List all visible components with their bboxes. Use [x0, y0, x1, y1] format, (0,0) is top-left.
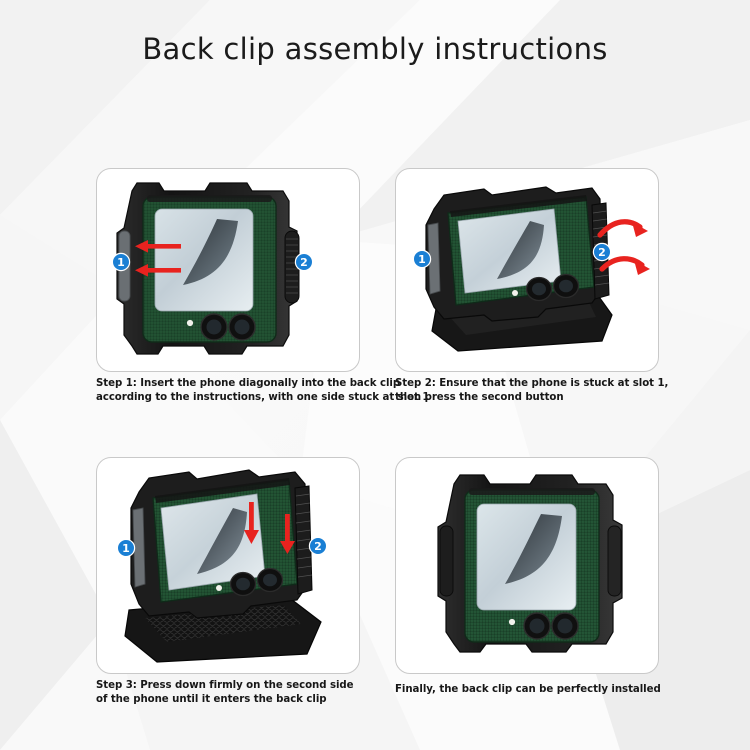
svg-text:2: 2 — [314, 540, 322, 553]
badge-slot-1: 1 — [117, 539, 134, 556]
panel-final — [395, 457, 659, 674]
svg-text:1: 1 — [122, 542, 130, 555]
caption-line: according to the instructions, with one … — [96, 391, 386, 405]
caption-step-3: Step 3: Press down firmly on the second … — [96, 679, 376, 708]
svg-text:2: 2 — [300, 256, 308, 269]
badge-slot-1: 1 — [112, 253, 129, 270]
caption-step-2: Step 2: Ensure that the phone is stuck a… — [395, 377, 685, 406]
page-title: Back clip assembly instructions — [0, 32, 750, 66]
svg-text:1: 1 — [418, 253, 426, 266]
caption-line: Step 2: Ensure that the phone is stuck a… — [395, 377, 685, 391]
badge-slot-2: 2 — [593, 243, 610, 260]
caption-line: then press the second button — [395, 391, 685, 405]
svg-text:1: 1 — [117, 256, 125, 269]
caption-line: Finally, the back clip can be perfectly … — [395, 683, 685, 697]
badge-slot-1: 1 — [413, 250, 430, 267]
panel-step-1: 1 2 — [96, 168, 360, 372]
caption-step-1: Step 1: Insert the phone diagonally into… — [96, 377, 386, 406]
caption-line: Step 1: Insert the phone diagonally into… — [96, 377, 386, 391]
svg-text:2: 2 — [598, 246, 606, 259]
badge-slot-2: 2 — [295, 253, 312, 270]
badge-slot-2: 2 — [309, 537, 326, 554]
caption-line: of the phone until it enters the back cl… — [96, 693, 376, 707]
panel-step-2: 1 2 — [395, 168, 659, 372]
device-illustration-step-2 — [426, 187, 612, 351]
device-illustration-final — [438, 475, 622, 652]
caption-final: Finally, the back clip can be perfectly … — [395, 683, 685, 697]
caption-line: Step 3: Press down firmly on the second … — [96, 679, 376, 693]
panel-step-3: 1 2 — [96, 457, 360, 674]
device-illustration-step-3 — [125, 470, 321, 662]
